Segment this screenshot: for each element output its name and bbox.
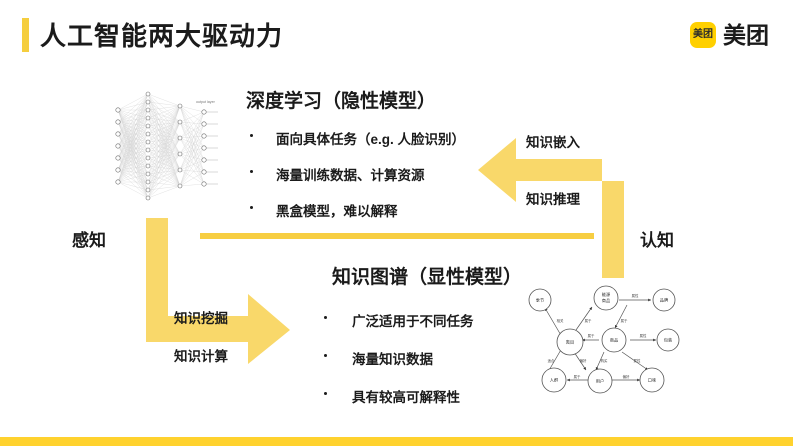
arrow-label-knowledge-embedding: 知识嵌入: [526, 131, 580, 151]
list-item: 面向具体任务（e.g. 人脸识别）: [248, 128, 508, 148]
knowledge-graph-icon: 季节 能源 商品 品牌 类目 商品 包装 人群 用户 口味 相关 属于 属于 属…: [520, 282, 692, 400]
kg-edge-label: 适合: [548, 358, 555, 363]
list-item: 海量训练数据、计算资源: [248, 164, 508, 184]
kg-node-label: 用户: [596, 378, 604, 385]
brand-name: 美团: [723, 24, 769, 47]
kg-edge-label: 属于: [588, 333, 595, 338]
kg-node-label: 类目: [566, 339, 574, 346]
center-divider-line: [200, 233, 594, 239]
kg-node-label: 季节: [536, 297, 544, 304]
arrow-label-knowledge-reasoning: 知识推理: [526, 188, 580, 208]
list-item: 黑盒模型，难以解释: [248, 200, 508, 220]
arrow-label-knowledge-mining: 知识挖掘: [174, 307, 228, 327]
list-item: 海量知识数据: [322, 348, 552, 368]
kg-node-label: 能源: [602, 291, 611, 298]
kg-edge-label: 相关: [557, 318, 564, 323]
title-accent-bar: [22, 18, 29, 52]
brand-logo: 美团 美团: [690, 22, 769, 48]
label-cognition: 认知: [640, 226, 674, 251]
knowledge-graph-figure: 季节 能源 商品 品牌 类目 商品 包装 人群 用户 口味 相关 属于 属于 属…: [520, 282, 692, 400]
kg-edge-label: 偏好: [623, 374, 630, 379]
deep-learning-bullet-list: 面向具体任务（e.g. 人脸识别） 海量训练数据、计算资源 黑盒模型，难以解释: [248, 128, 508, 236]
neural-network-icon: output layer: [104, 84, 226, 208]
knowledge-graph-bullet-list: 广泛适用于不同任务 海量知识数据 具有较高可解释性: [322, 310, 552, 424]
list-item: 具有较高可解释性: [322, 386, 552, 406]
kg-node-label: 商品: [610, 337, 618, 344]
kg-edge-label: 属性: [640, 333, 647, 338]
neural-net-output-layer-caption: output layer: [196, 100, 216, 104]
kg-node-label: 人群: [550, 377, 559, 384]
slide-canvas: 人工智能两大驱动力 美团 美团: [0, 0, 793, 446]
knowledge-graph-heading: 知识图谱（显性模型）: [332, 262, 522, 289]
kg-edge-label: 属于: [574, 374, 581, 379]
kg-edge-label: 属于: [621, 318, 628, 323]
meituan-logo-icon: 美团: [690, 22, 716, 48]
list-item: 广泛适用于不同任务: [322, 310, 552, 330]
label-perception: 感知: [72, 226, 106, 251]
kg-node-label: 商品: [602, 297, 610, 304]
footer-accent-bar: [0, 437, 793, 446]
kg-edge-label: 属于: [585, 318, 592, 323]
kg-edge-label: 属性: [632, 293, 639, 298]
arrow-label-knowledge-computation: 知识计算: [174, 345, 228, 365]
page-title: 人工智能两大驱动力: [40, 16, 283, 53]
kg-node-label: 包装: [664, 337, 673, 344]
kg-edge-label: 属性: [634, 358, 641, 363]
neural-network-figure: output layer: [104, 84, 226, 208]
kg-edge-label: 偏好: [580, 358, 587, 363]
kg-edge-label: 购买: [601, 358, 608, 363]
deep-learning-heading: 深度学习（隐性模型）: [246, 86, 436, 113]
kg-node-label: 品牌: [660, 297, 668, 304]
kg-node-label: 口味: [648, 377, 657, 384]
